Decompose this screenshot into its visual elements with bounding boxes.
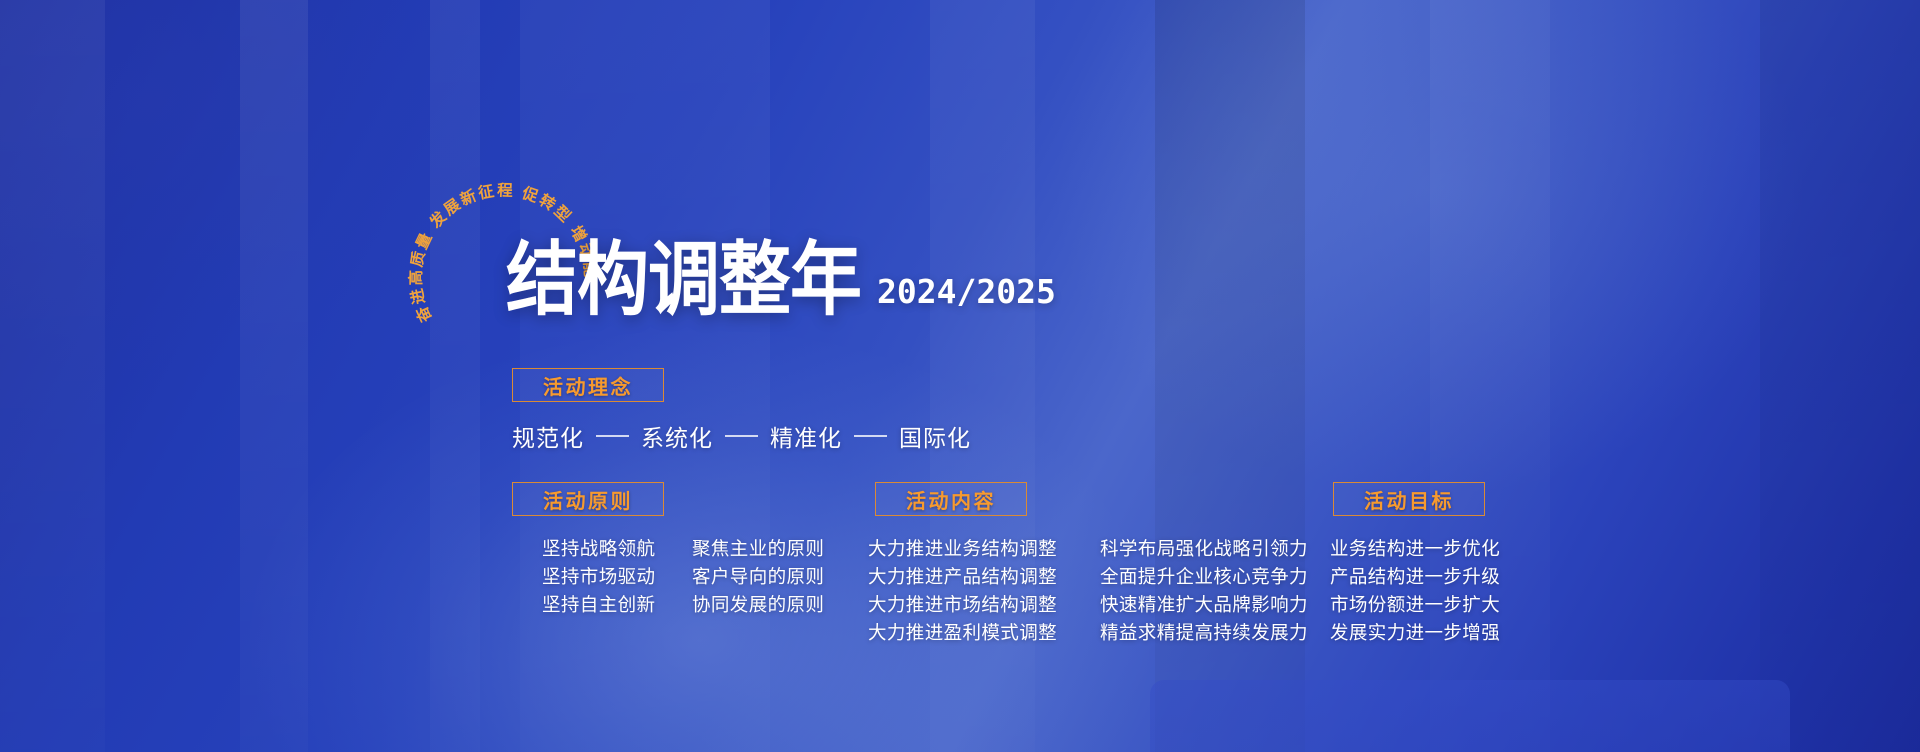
list-item: 市场份额进一步扩大 bbox=[1330, 591, 1500, 619]
list-item: 坚持自主创新 协同发展的原则 bbox=[542, 591, 824, 619]
content-detail: 快速精准扩大品牌影响力 bbox=[1100, 591, 1308, 619]
content-lead: 大力推进市场结构调整 bbox=[868, 591, 1086, 619]
badge-activity-principle: 活动原则 bbox=[512, 482, 664, 516]
goal-text: 发展实力进一步增强 bbox=[1330, 619, 1500, 647]
list-item: 坚持战略领航 聚焦主业的原则 bbox=[542, 535, 824, 563]
concept-separator-dash-icon bbox=[725, 435, 758, 437]
background-band bbox=[1760, 0, 1920, 752]
concept-separator-dash-icon bbox=[854, 435, 887, 437]
principle-detail: 聚焦主业的原则 bbox=[692, 535, 824, 563]
concept-keyword: 系统化 bbox=[641, 419, 713, 453]
content-lead: 大力推进盈利模式调整 bbox=[868, 619, 1086, 647]
content-list: 大力推进业务结构调整 科学布局强化战略引领力 大力推进产品结构调整 全面提升企业… bbox=[868, 535, 1308, 647]
list-item: 大力推进市场结构调整 快速精准扩大品牌影响力 bbox=[868, 591, 1308, 619]
content-detail: 全面提升企业核心竞争力 bbox=[1100, 563, 1308, 591]
concept-keyword-line: 规范化 系统化 精准化 国际化 bbox=[512, 419, 971, 453]
principle-detail: 协同发展的原则 bbox=[692, 591, 824, 619]
list-item: 大力推进业务结构调整 科学布局强化战略引领力 bbox=[868, 535, 1308, 563]
list-item: 产品结构进一步升级 bbox=[1330, 563, 1500, 591]
list-item: 坚持市场驱动 客户导向的原则 bbox=[542, 563, 824, 591]
badge-activity-goal: 活动目标 bbox=[1333, 482, 1485, 516]
page-title: 结构调整年 bbox=[506, 241, 861, 320]
concept-keyword: 精准化 bbox=[770, 419, 842, 453]
list-item: 大力推进产品结构调整 全面提升企业核心竞争力 bbox=[868, 563, 1308, 591]
background-band bbox=[240, 0, 308, 752]
concept-separator-dash-icon bbox=[596, 435, 629, 437]
content-detail: 精益求精提高持续发展力 bbox=[1100, 619, 1308, 647]
goal-text: 业务结构进一步优化 bbox=[1330, 535, 1500, 563]
badge-activity-content: 活动内容 bbox=[875, 482, 1027, 516]
list-item: 发展实力进一步增强 bbox=[1330, 619, 1500, 647]
content-lead: 大力推进业务结构调整 bbox=[868, 535, 1086, 563]
list-item: 大力推进盈利模式调整 精益求精提高持续发展力 bbox=[868, 619, 1308, 647]
list-item: 业务结构进一步优化 bbox=[1330, 535, 1500, 563]
title-block: 结构调整年 2024/2025 bbox=[506, 249, 1056, 320]
principle-lead: 坚持战略领航 bbox=[542, 535, 678, 563]
decorative-slab bbox=[1150, 680, 1790, 752]
poster-canvas: 奋进高质量 发展新征程 促转型 增动能 结构调整年 2024/2025 活动理念… bbox=[0, 0, 1920, 752]
goal-text: 市场份额进一步扩大 bbox=[1330, 591, 1500, 619]
content-lead: 大力推进产品结构调整 bbox=[868, 563, 1086, 591]
background-glow-right bbox=[1050, 0, 1810, 500]
principle-lead: 坚持自主创新 bbox=[542, 591, 678, 619]
background-band bbox=[0, 0, 105, 752]
content-detail: 科学布局强化战略引领力 bbox=[1100, 535, 1308, 563]
concept-keyword: 国际化 bbox=[899, 419, 971, 453]
principle-detail: 客户导向的原则 bbox=[692, 563, 824, 591]
principle-list: 坚持战略领航 聚焦主业的原则 坚持市场驱动 客户导向的原则 坚持自主创新 协同发… bbox=[542, 535, 824, 619]
goal-text: 产品结构进一步升级 bbox=[1330, 563, 1500, 591]
badge-activity-concept: 活动理念 bbox=[512, 368, 664, 402]
goal-list: 业务结构进一步优化 产品结构进一步升级 市场份额进一步扩大 发展实力进一步增强 bbox=[1330, 535, 1500, 647]
principle-lead: 坚持市场驱动 bbox=[542, 563, 678, 591]
concept-keyword: 规范化 bbox=[512, 419, 584, 453]
year-range-label: 2024/2025 bbox=[877, 272, 1056, 320]
